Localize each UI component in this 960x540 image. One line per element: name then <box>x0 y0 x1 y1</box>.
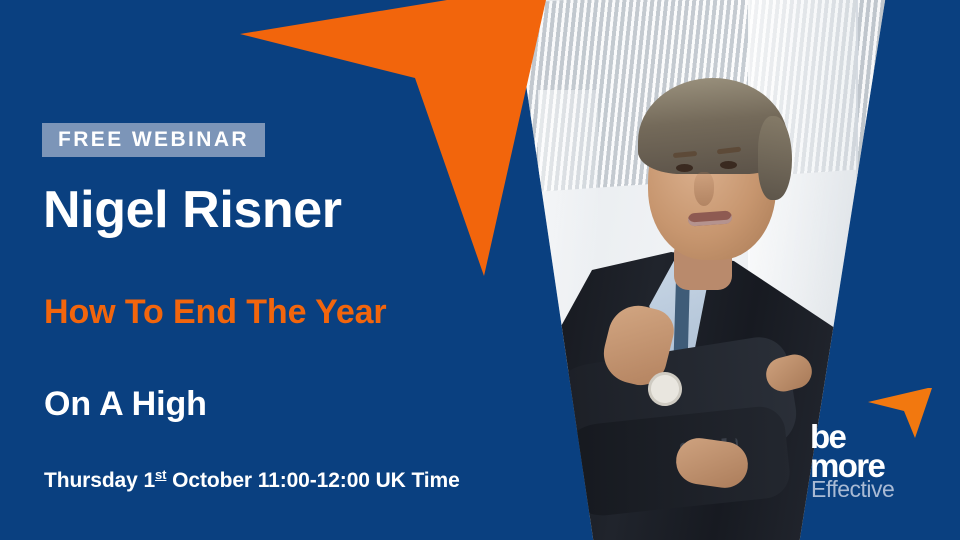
eye-left <box>676 164 693 172</box>
brand-logo-tagline: Effective <box>811 478 894 501</box>
hair <box>638 78 788 174</box>
banner-content: FREE WEBINAR Nigel Risner How To End The… <box>0 0 560 540</box>
schedule-rest: October 11:00-12:00 UK Time <box>166 469 459 492</box>
free-webinar-badge: FREE WEBINAR <box>42 123 265 157</box>
webinar-promo-banner: FREE WEBINAR Nigel Risner How To End The… <box>0 0 960 540</box>
schedule-line: Thursday 1st October 11:00-12:00 UK Time <box>44 468 460 492</box>
speaker-name: Nigel Risner <box>43 182 342 239</box>
brand-logo: be more Effective <box>810 386 932 504</box>
headline-line-2: On A High <box>44 386 207 423</box>
schedule-ordinal: st <box>155 467 166 482</box>
eye-right <box>720 161 737 169</box>
brand-logo-wordmark: be more <box>810 422 884 480</box>
schedule-day: Thursday 1 <box>44 469 155 492</box>
headline-line-1: How To End The Year <box>44 294 387 331</box>
nose <box>694 172 714 206</box>
